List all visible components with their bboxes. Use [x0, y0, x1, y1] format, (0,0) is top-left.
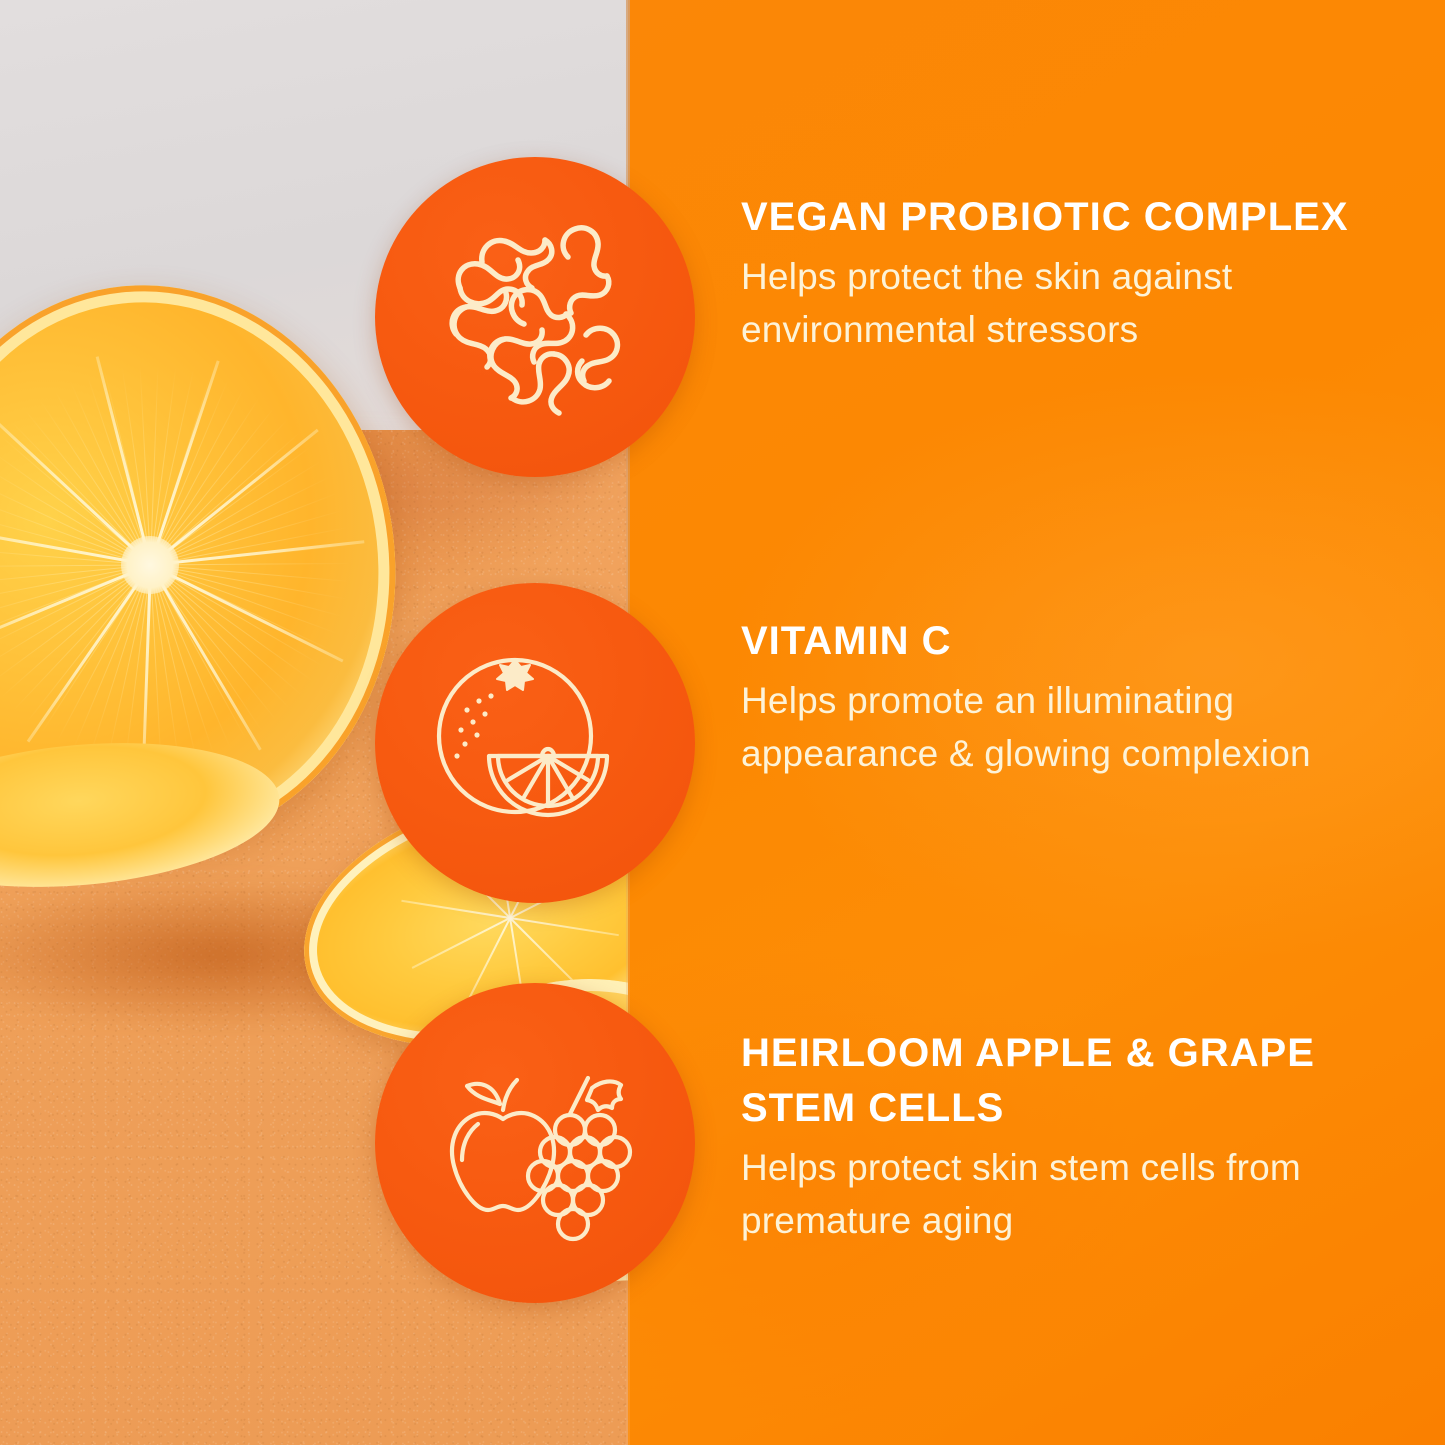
feature-description: Helps protect the skin against environme… [741, 251, 1431, 356]
feature-block-vitamin-c: VITAMIN C Helps promote an illuminating … [741, 614, 1431, 780]
probiotic-bacteria-icon [375, 157, 695, 477]
feature-block-vegan-probiotic-complex: VEGAN PROBIOTIC COMPLEX Helps protect th… [741, 190, 1431, 356]
feature-title: VEGAN PROBIOTIC COMPLEX [741, 190, 1431, 245]
feature-block-heirloom-apple-grape-stem-cells: HEIRLOOM APPLE & GRAPE STEM CELLS Helps … [741, 1026, 1431, 1247]
feature-description: Helps protect skin stem cells from prema… [741, 1142, 1431, 1247]
ingredient-benefits-infographic: VEGAN PROBIOTIC COMPLEX Helps protect th… [0, 0, 1445, 1445]
apple-grape-icon [375, 983, 695, 1303]
feature-title: VITAMIN C [741, 614, 1431, 669]
feature-description: Helps promote an illuminating appearance… [741, 675, 1431, 780]
feature-title: HEIRLOOM APPLE & GRAPE STEM CELLS [741, 1026, 1431, 1136]
orange-fruit-slice-icon [375, 583, 695, 903]
